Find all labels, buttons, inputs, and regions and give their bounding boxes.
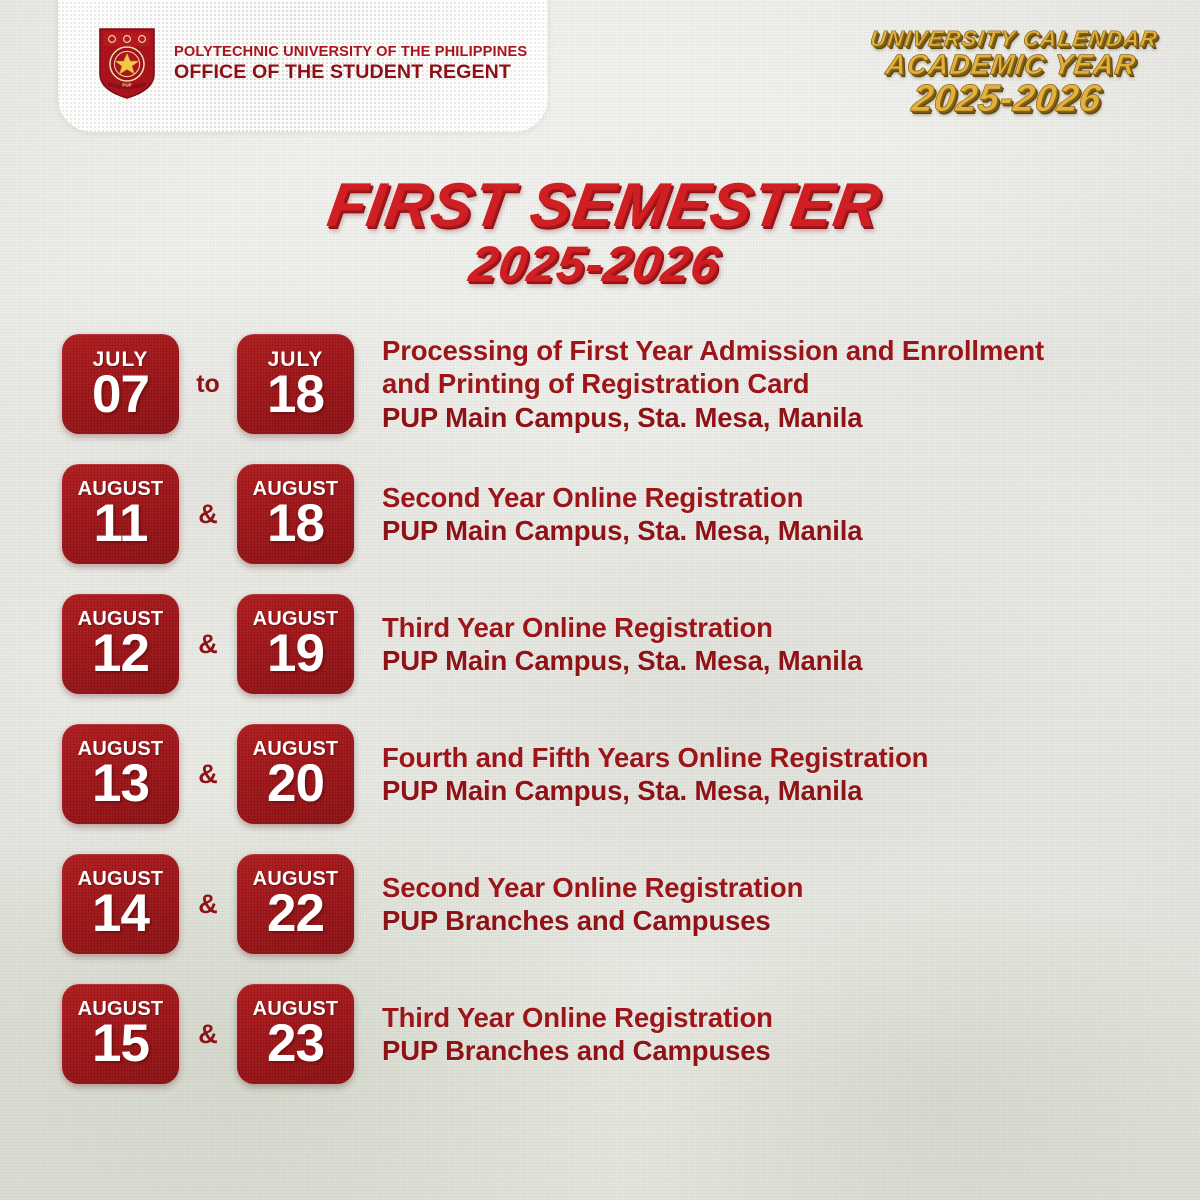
calendar-badge: UNIVERSITY CALENDAR ACADEMIC YEAR 2025-2… [861, 28, 1160, 118]
date-chip-start: AUGUST13 [62, 724, 179, 824]
organization-header: PUP POLYTECHNIC UNIVERSITY OF THE PHILIP… [96, 26, 527, 100]
badge-line-academic-year: ACADEMIC YEAR [865, 51, 1156, 79]
date-chip-start: JULY07 [62, 334, 179, 434]
date-connector: & [179, 761, 237, 788]
schedule-row: AUGUST13&AUGUST20Fourth and Fifth Years … [62, 724, 1170, 824]
chip-day: 12 [92, 630, 149, 679]
date-chip-start: AUGUST14 [62, 854, 179, 954]
schedule-row: AUGUST14&AUGUST22Second Year Online Regi… [62, 854, 1170, 954]
event-venue: PUP Main Campus, Sta. Mesa, Manila [382, 644, 862, 677]
chip-day: 11 [93, 500, 147, 549]
event-title-line: Second Year Online Registration [382, 481, 862, 514]
date-chip-end: AUGUST23 [237, 984, 354, 1084]
event-title-line: Fourth and Fifth Years Online Registrati… [382, 741, 928, 774]
event-description: Fourth and Fifth Years Online Registrati… [354, 741, 928, 808]
event-venue: PUP Branches and Campuses [382, 1034, 773, 1067]
chip-day: 07 [92, 371, 149, 420]
badge-line-years: 2025-2026 [861, 80, 1153, 118]
date-chip-start: AUGUST11 [62, 464, 179, 564]
chip-day: 19 [267, 630, 324, 679]
date-chip-end: JULY18 [237, 334, 354, 434]
badge-line-university-calendar: UNIVERSITY CALENDAR [869, 28, 1159, 50]
schedule-row: JULY07toJULY18Processing of First Year A… [62, 334, 1170, 434]
date-chip-end: AUGUST19 [237, 594, 354, 694]
date-connector: & [179, 631, 237, 658]
chip-day: 15 [92, 1020, 149, 1069]
university-name: POLYTECHNIC UNIVERSITY OF THE PHILIPPINE… [174, 45, 527, 60]
date-chip-end: AUGUST20 [237, 724, 354, 824]
date-chip-start: AUGUST15 [62, 984, 179, 1084]
page-title-main: FIRST SEMESTER [0, 176, 1200, 237]
date-connector: & [179, 891, 237, 918]
date-chip-end: AUGUST18 [237, 464, 354, 564]
event-venue: PUP Main Campus, Sta. Mesa, Manila [382, 401, 1044, 434]
schedule-list: JULY07toJULY18Processing of First Year A… [62, 334, 1170, 1084]
event-description: Third Year Online RegistrationPUP Branch… [354, 1001, 773, 1068]
date-chip-end: AUGUST22 [237, 854, 354, 954]
event-venue: PUP Main Campus, Sta. Mesa, Manila [382, 774, 928, 807]
event-title-line: Third Year Online Registration [382, 611, 862, 644]
event-description: Processing of First Year Admission and E… [354, 334, 1044, 434]
svg-text:PUP: PUP [122, 83, 131, 88]
pup-seal-icon: PUP [96, 26, 158, 100]
page-title-sub: 2025-2026 [0, 239, 1199, 289]
schedule-row: AUGUST15&AUGUST23Third Year Online Regis… [62, 984, 1170, 1084]
date-chip-start: AUGUST12 [62, 594, 179, 694]
chip-day: 13 [92, 760, 149, 809]
chip-day: 23 [267, 1020, 324, 1069]
event-title-line: Third Year Online Registration [382, 1001, 773, 1034]
organization-name: POLYTECHNIC UNIVERSITY OF THE PHILIPPINE… [174, 43, 527, 82]
event-venue: PUP Main Campus, Sta. Mesa, Manila [382, 514, 862, 547]
office-name: OFFICE OF THE STUDENT REGENT [174, 62, 527, 83]
event-description: Second Year Online RegistrationPUP Branc… [354, 871, 803, 938]
event-title-line: and Printing of Registration Card [382, 367, 1044, 400]
page-title: FIRST SEMESTER 2025-2026 [0, 176, 1200, 289]
event-venue: PUP Branches and Campuses [382, 904, 803, 937]
chip-day: 20 [267, 760, 324, 809]
event-title-line: Processing of First Year Admission and E… [382, 334, 1044, 367]
chip-day: 18 [267, 371, 324, 420]
schedule-row: AUGUST12&AUGUST19Third Year Online Regis… [62, 594, 1170, 694]
date-connector: & [179, 501, 237, 528]
schedule-row: AUGUST11&AUGUST18Second Year Online Regi… [62, 464, 1170, 564]
event-description: Third Year Online RegistrationPUP Main C… [354, 611, 862, 678]
chip-day: 14 [92, 890, 149, 939]
chip-day: 18 [267, 500, 324, 549]
chip-day: 22 [267, 890, 324, 939]
date-connector: & [179, 1021, 237, 1048]
event-description: Second Year Online RegistrationPUP Main … [354, 481, 862, 548]
event-title-line: Second Year Online Registration [382, 871, 803, 904]
date-connector: to [179, 372, 237, 397]
